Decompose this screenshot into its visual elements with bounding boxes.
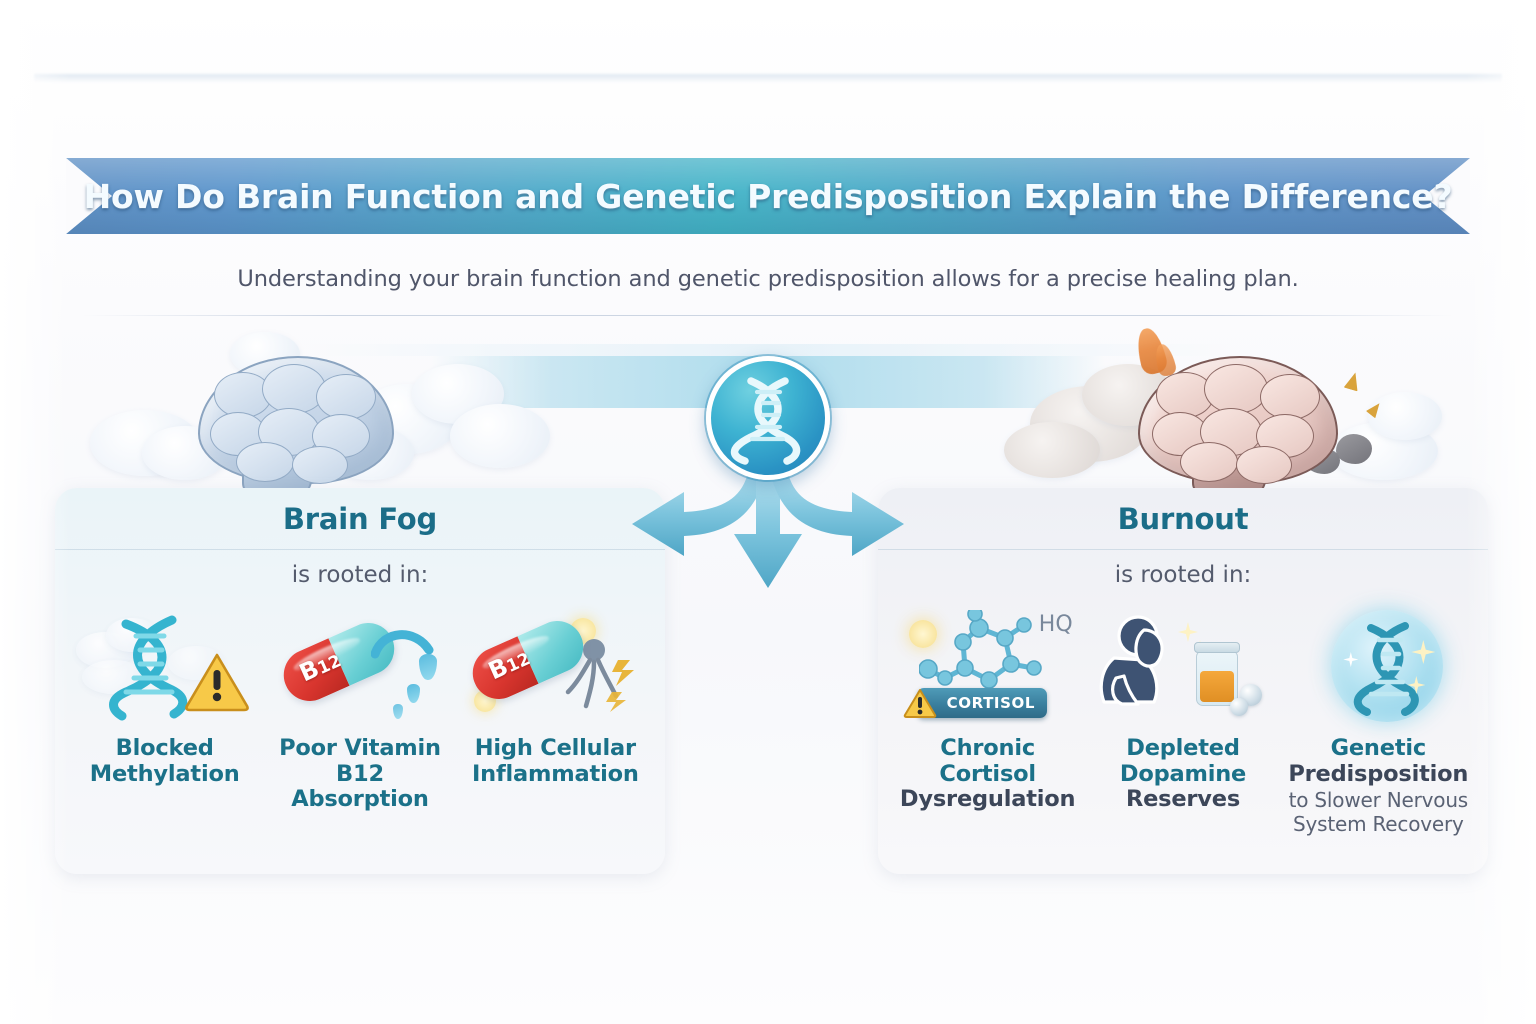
item-label-line3: Reserves xyxy=(1126,786,1240,812)
jar-cap xyxy=(1194,642,1240,653)
infographic-canvas: How Do Brain Function and Genetic Predis… xyxy=(0,0,1536,1024)
spark-icon xyxy=(1344,371,1363,392)
item-label-line1: Poor Vitamin xyxy=(279,735,441,761)
smoke-cloud-icon xyxy=(1004,422,1100,478)
item-label-line1: Blocked xyxy=(116,735,214,761)
rock-icon xyxy=(1336,434,1372,464)
item-label-line3: Dysregulation xyxy=(900,786,1075,812)
item-label-line2: B12 Absorption xyxy=(291,761,429,813)
dna-warning-icon xyxy=(72,606,258,724)
dna-helix-icon xyxy=(1331,610,1443,722)
supplement-jar-icon xyxy=(1196,650,1238,706)
item-label-line2: Inflammation xyxy=(472,761,639,787)
item-label: Depleted Dopamine Reserves xyxy=(1120,736,1246,813)
brain-lobe xyxy=(292,446,348,484)
dna-medallion-icon xyxy=(706,356,830,480)
b12-capsule-droplets-icon: B12 xyxy=(267,606,453,724)
brain-lobe xyxy=(1236,446,1292,484)
title-banner: How Do Brain Function and Genetic Predis… xyxy=(66,158,1470,234)
droplet-icon xyxy=(407,684,420,703)
dna-glow-sparkle-icon xyxy=(1285,606,1471,724)
item-label-line1: Genetic xyxy=(1331,735,1426,761)
jar-fill xyxy=(1200,671,1234,702)
exhausted-person-supplement-jar-icon xyxy=(1090,606,1276,724)
divergence-arrows xyxy=(618,462,918,594)
droplet-icon xyxy=(419,654,437,680)
panel-brain-fog: Brain Fog is rooted in: xyxy=(55,488,665,874)
panel-subheading: is rooted in: xyxy=(55,550,665,600)
exhausted-person-icon xyxy=(1094,614,1190,714)
panel-heading: Brain Fog xyxy=(55,488,665,550)
item-label-line2: Methylation xyxy=(90,761,240,787)
subtitle-text: Understanding your brain function and ge… xyxy=(0,266,1536,292)
item-label: Genetic Predisposition to Slower Nervous… xyxy=(1283,736,1474,836)
cloud-icon xyxy=(450,404,550,468)
item-label-line1: Depleted xyxy=(1126,735,1240,761)
item-label: Poor Vitamin B12 Absorption xyxy=(264,736,455,813)
brain-illustration-burnt xyxy=(1138,356,1338,484)
panel-item-poor-b12-absorption: B12 Poor Vitamin B12 Absorption xyxy=(264,606,455,813)
brain-lobe xyxy=(1180,442,1238,482)
panel-item-genetic-predisposition: Genetic Predisposition to Slower Nervous… xyxy=(1283,606,1474,836)
tablet-icon xyxy=(1230,698,1248,716)
panel-subheading: is rooted in: xyxy=(878,550,1488,600)
item-label: Chronic Cortisol Dysregulation xyxy=(900,736,1075,813)
panel-heading: Burnout xyxy=(878,488,1488,550)
panel-item-chronic-cortisol-dysregulation: HQ xyxy=(892,606,1083,836)
item-label-line2: Cortisol xyxy=(939,761,1036,787)
hero-scene-burnout xyxy=(1010,330,1430,505)
brain-illustration-foggy xyxy=(198,356,394,484)
panel-item-blocked-methylation: Blocked Methylation xyxy=(69,606,260,813)
item-label-line1: High Cellular xyxy=(475,735,636,761)
item-label: High Cellular Inflammation xyxy=(472,736,639,787)
banner-title-text: How Do Brain Function and Genetic Predis… xyxy=(66,158,1470,234)
panel-item-high-cellular-inflammation: B12 High Cellular Inflammation xyxy=(460,606,651,813)
brain-lobe xyxy=(316,374,376,420)
cloud-icon xyxy=(1368,392,1442,440)
b12-capsule-inflammation-icon: B12 xyxy=(462,606,648,724)
cortisol-molecule-icon: HQ xyxy=(895,606,1081,724)
brain-lobe xyxy=(1260,374,1320,420)
dna-helix-icon xyxy=(711,361,825,475)
panel-burnout: Burnout is rooted in: HQ xyxy=(878,488,1488,874)
genetic-glow-circle xyxy=(1331,610,1443,722)
item-label: Blocked Methylation xyxy=(90,736,240,787)
arrow-down-center xyxy=(734,462,802,588)
header-divider xyxy=(82,315,1454,316)
warning-triangle-icon xyxy=(184,652,250,712)
panel-item-depleted-dopamine-reserves: Depleted Dopamine Reserves xyxy=(1087,606,1278,836)
banner-shadow xyxy=(34,74,1502,83)
brain-lobe xyxy=(262,364,326,414)
warning-triangle-icon xyxy=(903,688,937,719)
hero-scene-brain-fog xyxy=(120,330,540,505)
droplet-icon xyxy=(393,704,403,719)
item-label-sub: to Slower Nervous System Recovery xyxy=(1283,789,1474,836)
brain-lobe xyxy=(236,442,294,482)
item-label-line2: Dopamine xyxy=(1120,761,1246,787)
brain-lobe xyxy=(1204,364,1268,414)
item-label-line1: Chronic xyxy=(940,735,1035,761)
item-label-line2: Predisposition xyxy=(1288,761,1468,787)
